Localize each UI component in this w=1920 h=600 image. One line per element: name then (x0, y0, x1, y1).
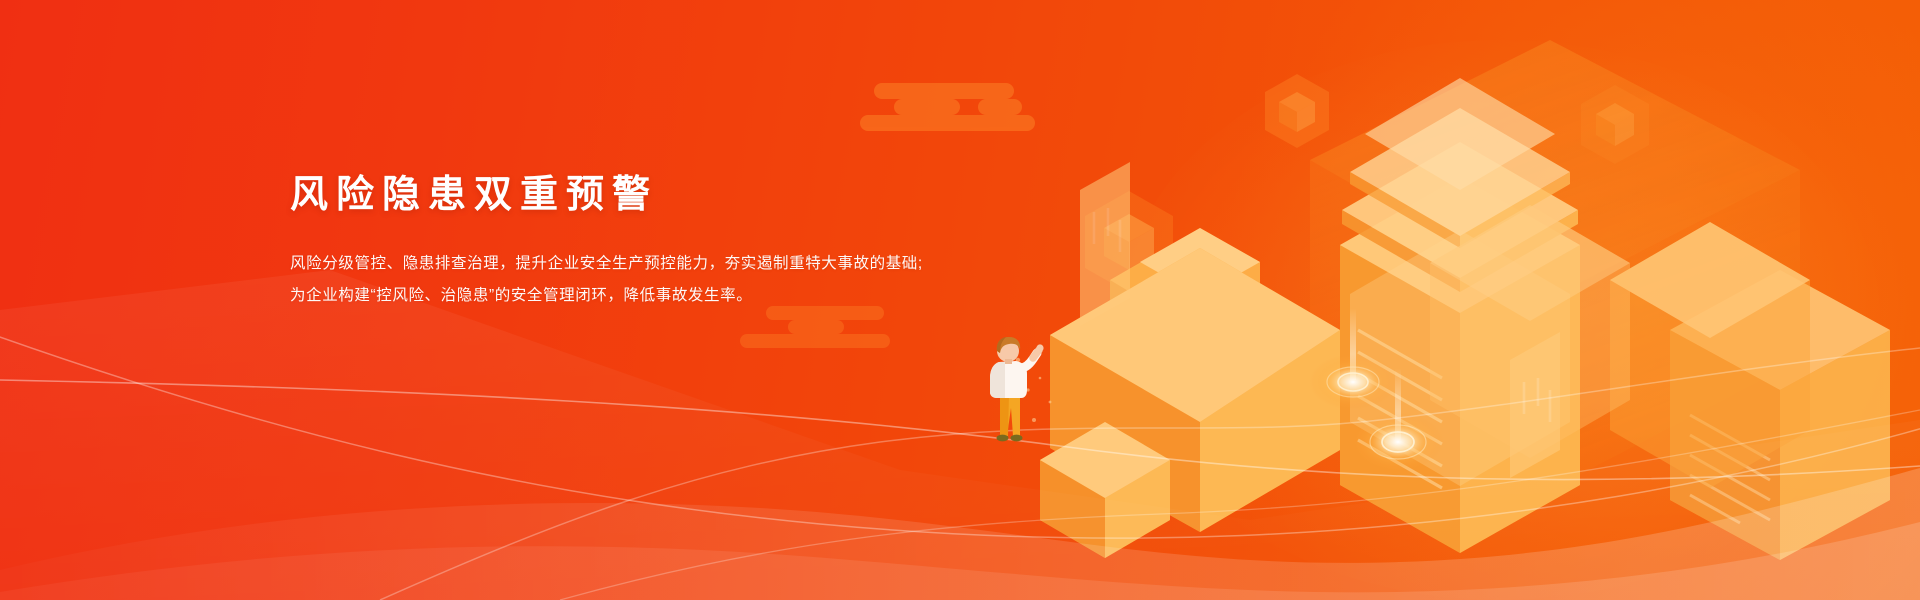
banner-title: 风险隐患双重预警 (290, 172, 990, 220)
banner-copy: 风险隐患双重预警 风险分级管控、隐患排查治理，提升企业安全生产预控能力，夯实遏制… (290, 172, 990, 312)
cloud-top-left-icon (860, 83, 1070, 145)
isometric-server-towers-illustration (1010, 30, 1920, 590)
banner-subtitle-line-1: 风险分级管控、隐患排查治理，提升企业安全生产预控能力，夯实遏制重特大事故的基础; (290, 248, 990, 280)
person-pointing-up-illustration (975, 332, 1045, 452)
hero-banner: 风险隐患双重预警 风险分级管控、隐患排查治理，提升企业安全生产预控能力，夯实遏制… (0, 0, 1920, 600)
glow-dot-upper-icon (1309, 308, 1397, 410)
hex-cube-large-icon (1080, 188, 1178, 296)
background-glow-center (1120, 40, 1880, 600)
glow-dot-lower-icon (1352, 368, 1444, 472)
banner-subtitle-line-2: 为企业构建“控风险、治隐患”的安全管理闭环，降低事故发生率。 (290, 280, 990, 312)
hex-cube-small-icon (1262, 72, 1332, 150)
bottom-wave-decoration (0, 270, 1920, 600)
banner-subtitle: 风险分级管控、隐患排查治理，提升企业安全生产预控能力，夯实遏制重特大事故的基础;… (290, 248, 990, 312)
cloud-mid-left-icon (740, 306, 930, 356)
background-glow-right (1200, 0, 1920, 600)
hex-cube-top-right-icon (1578, 83, 1652, 167)
